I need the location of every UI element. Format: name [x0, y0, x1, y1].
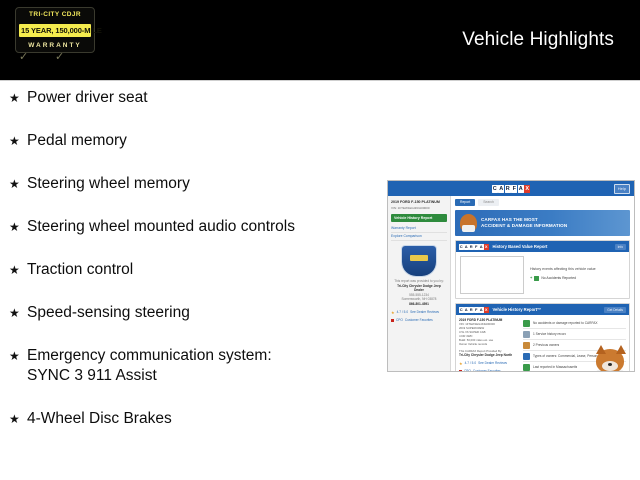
carfax-promo-banner: CARFAX HAS THE MOST ACCIDENT & DAMAGE IN… — [455, 210, 630, 236]
highlight-item: ★Power driver seat — [0, 88, 380, 108]
cpo-label: CPO — [396, 318, 403, 323]
logo-warranty-term: 15 YEAR, 150,000-MILE — [19, 24, 91, 37]
history-cpo-link[interactable]: Customer Favorites — [473, 369, 501, 372]
carfax-logo-letter: X — [524, 185, 530, 193]
get-details-button[interactable]: Get Details — [604, 307, 626, 313]
carfax-logo: CARFAX — [459, 244, 489, 250]
history-vehicle-details: 2019 FORD F-150 PLATINUM VIN: 1FTEW1EG4K… — [459, 318, 519, 372]
carfax-logo-letter: C — [492, 185, 498, 193]
fox-nose — [608, 363, 612, 366]
star-bullet-icon: ★ — [9, 88, 27, 108]
history-check-row[interactable]: 1 Service history record — [523, 329, 626, 340]
history-check-icon — [523, 353, 530, 360]
highlight-item: ★4-Wheel Disc Brakes — [0, 409, 380, 429]
highlight-item: ★Pedal memory — [0, 131, 380, 151]
history-cpo-label: CPO — [464, 369, 471, 372]
provider-name: Tri-City Chrysler Dodge Jeep North — [459, 353, 519, 357]
carfax-logo-letter: F — [511, 185, 517, 193]
vehicle-history-panel: CARFAX Vehicle History Report™ Get Detai… — [455, 303, 630, 372]
tab-search[interactable]: Search — [478, 199, 499, 206]
history-check-label: 1 Service history record — [533, 332, 566, 337]
page-header: TRI-CITY CDJR 15 YEAR, 150,000-MILE WARR… — [0, 0, 640, 80]
panel-header: CARFAX Vehicle History Report™ Get Detai… — [456, 304, 629, 315]
history-detail-line: Owner Vehicle records — [459, 342, 519, 346]
tab-report[interactable]: Report — [455, 199, 475, 206]
highlight-item: ★Steering wheel mounted audio controls — [0, 217, 380, 237]
fox-ear-right — [616, 345, 626, 354]
history-check-label: Last reported in Massachusetts — [533, 365, 577, 370]
carfax-logo-letter: C — [459, 244, 464, 250]
promo-line-2: ACCIDENT & DAMAGE INFORMATION — [481, 223, 567, 229]
carfax-tab-bar: Report Search — [455, 199, 630, 206]
highlight-item-label: Traction control — [27, 260, 133, 280]
star-icon: ★ — [391, 310, 395, 315]
history-reviews-link[interactable]: See Dealer Reviews — [478, 361, 507, 366]
carfax-report-screenshot: CARFAX Help 2019 FORD F-150 PLATINUM VIN… — [387, 180, 635, 372]
dealer-rating-value: 4.7 / 5.0 — [397, 310, 409, 315]
logo-dealer-name: TRI-CITY CDJR — [29, 10, 81, 19]
highlight-item: ★Emergency communication system: SYNC 3 … — [0, 346, 380, 386]
sidebar-vin: VIN: 1FTEW1EG4KFA00000 — [391, 206, 447, 210]
history-check-icon — [523, 331, 530, 338]
help-button[interactable]: Help — [614, 184, 630, 194]
value-event-row: + No Accidents Reported — [530, 275, 625, 281]
sidebar-item-warranty-report[interactable]: Warranty Report — [391, 225, 447, 233]
panel-header: CARFAX History Based Value Report Info — [456, 241, 629, 252]
star-bullet-icon: ★ — [9, 409, 27, 429]
carfax-logo-letter: A — [464, 244, 469, 250]
history-check-icon — [523, 364, 530, 371]
fox-mascot-icon — [460, 214, 477, 232]
carfax-sidebar: 2019 FORD F-150 PLATINUM VIN: 1FTEW1EG4K… — [388, 196, 451, 371]
history-check-row[interactable]: No accidents or damage reported to CARFA… — [523, 318, 626, 329]
carfax-logo-letter: R — [505, 185, 511, 193]
carfax-main-column: Report Search CARFAX HAS THE MOST ACCIDE… — [451, 196, 634, 371]
star-bullet-icon: ★ — [9, 303, 27, 323]
carfax-logo-letter: A — [498, 185, 504, 193]
highlight-item-label: Steering wheel memory — [27, 174, 190, 194]
value-events-heading: History events affecting this vehicle va… — [530, 266, 625, 272]
value-event-label: No Accidents Reported — [541, 275, 576, 281]
star-bullet-icon: ★ — [9, 217, 27, 237]
check-icon: ✓ — [55, 52, 64, 63]
carfax-logo: CARFAX — [459, 307, 489, 313]
logo-warranty-word: WARRANTY — [28, 41, 82, 50]
highlight-item-label: Emergency communication system: SYNC 3 9… — [27, 346, 272, 386]
panel-title: History Based Value Report — [493, 244, 548, 250]
history-based-value-panel: CARFAX History Based Value Report Info H… — [455, 240, 630, 299]
sidebar-item-explore-comparison[interactable]: Explore Comparison — [391, 233, 447, 241]
panel-title: Vehicle History Report™ — [493, 307, 542, 313]
history-check-label: 2 Previous owners — [533, 343, 559, 348]
highlight-item-label: Speed-sensing steering — [27, 303, 190, 323]
carfax-logo-letter: R — [469, 307, 474, 313]
panel-info-button[interactable]: Info — [615, 244, 626, 250]
vehicle-highlights-list: ★Power driver seat★Pedal memory★Steering… — [0, 88, 380, 452]
dealer-badge-icon — [402, 246, 436, 276]
carfax-logo: CARFAX — [492, 185, 531, 193]
page-title: Vehicle Highlights — [462, 28, 614, 52]
highlight-item: ★Steering wheel memory — [0, 174, 380, 194]
value-chart-placeholder — [460, 256, 524, 294]
carfax-fox-mascot: CAR FOX — [589, 345, 631, 372]
star-icon: ★ — [459, 361, 463, 366]
history-check-icon — [523, 320, 530, 327]
star-bullet-icon: ★ — [9, 174, 27, 194]
star-bullet-icon: ★ — [9, 346, 27, 366]
fox-ear-left — [596, 345, 606, 354]
carfax-logo-letter: A — [479, 307, 484, 313]
highlight-item-label: Steering wheel mounted audio controls — [27, 217, 295, 237]
star-bullet-icon: ★ — [9, 131, 27, 151]
highlight-item-label: 4-Wheel Disc Brakes — [27, 409, 172, 429]
value-events-column: History events affecting this vehicle va… — [530, 256, 625, 294]
plus-icon: + — [530, 275, 532, 281]
panel-body: History events affecting this vehicle va… — [456, 252, 629, 298]
cpo-link[interactable]: Customer Favorites — [405, 318, 433, 323]
history-rating-value: 4.7 / 5.0 — [465, 361, 477, 366]
carfax-logo-letter: A — [518, 185, 524, 193]
carfax-logo-letter: C — [459, 307, 464, 313]
header-divider — [0, 80, 640, 81]
cpo-icon — [459, 370, 462, 372]
history-check-label: No accidents or damage reported to CARFA… — [533, 321, 598, 326]
highlight-item-label: Power driver seat — [27, 88, 148, 108]
panel-body: 2019 FORD F-150 PLATINUM VIN: 1FTEW1EG4K… — [456, 315, 629, 372]
dealer-warranty-logo: TRI-CITY CDJR 15 YEAR, 150,000-MILE WARR… — [15, 7, 95, 53]
carfax-top-bar: CARFAX Help — [388, 181, 634, 196]
carfax-logo-letter: A — [479, 244, 484, 250]
star-bullet-icon: ★ — [9, 260, 27, 280]
history-check-icon — [523, 342, 530, 349]
history-detail-lines: VIN: 1FTEW1EG4KFA000002019 SUPERCREW3.5L… — [459, 322, 519, 346]
carfax-logo-letter: R — [469, 244, 474, 250]
check-icon: ✓ — [19, 52, 28, 63]
carfax-logo-letter: X — [484, 307, 489, 313]
carfax-logo-letter: F — [474, 244, 479, 250]
highlight-item-label: Pedal memory — [27, 131, 127, 151]
dealer-hours: 866-801-4591 — [391, 302, 447, 307]
badge-caption: This report was provided to you by: — [391, 279, 447, 284]
history-rating-row: ★ 4.7 / 5.0 See Dealer Reviews — [459, 361, 519, 366]
carfax-logo-letter: F — [474, 307, 479, 313]
cpo-icon — [391, 319, 394, 322]
highlight-item: ★Traction control — [0, 260, 380, 280]
dealer-reviews-link[interactable]: See Dealer Reviews — [410, 310, 439, 315]
dealer-rating-row: ★ 4.7 / 5.0 See Dealer Reviews — [391, 310, 447, 315]
sidebar-vehicle-title: 2019 FORD F-150 PLATINUM — [391, 200, 447, 205]
check-badge-icon — [534, 276, 539, 281]
dealer-cpo-row: CPO Customer Favorites — [391, 318, 447, 323]
carfax-logo-letter: A — [464, 307, 469, 313]
history-cpo-row: CPO Customer Favorites — [459, 369, 519, 372]
sidebar-item-vehicle-history-report[interactable]: Vehicle History Report — [391, 214, 447, 222]
highlight-item: ★Speed-sensing steering — [0, 303, 380, 323]
carfax-logo-letter: X — [484, 244, 489, 250]
